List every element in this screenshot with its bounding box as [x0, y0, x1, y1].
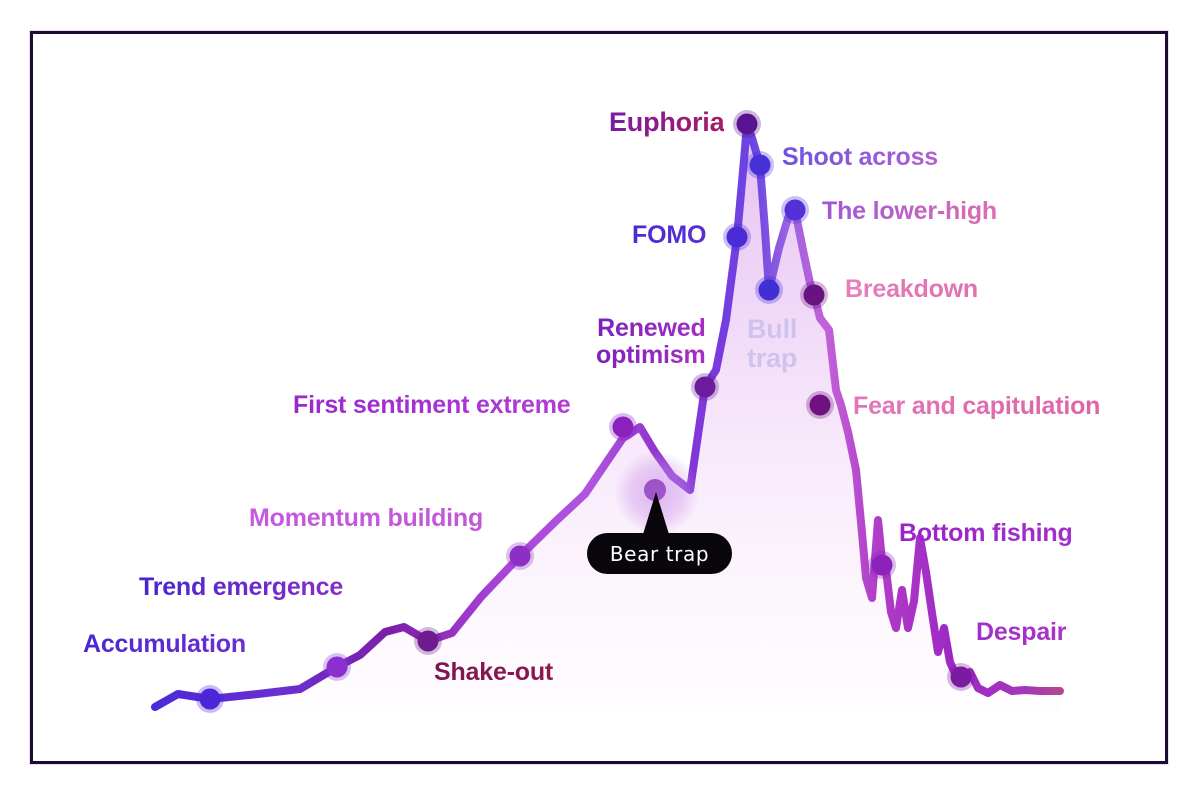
label-shake-out: Shake-out — [434, 659, 553, 686]
data-point-trend-emergence[interactable] — [327, 657, 348, 678]
label-shoot-across: Shoot across — [782, 144, 938, 171]
data-point-fear-and-capitulation[interactable] — [810, 395, 831, 416]
data-point-accumulation[interactable] — [200, 689, 221, 710]
label-breakdown: Breakdown — [845, 276, 978, 303]
data-point-bottom-fishing[interactable] — [872, 555, 893, 576]
data-point-fomo[interactable] — [727, 227, 748, 248]
label-despair: Despair — [976, 619, 1066, 646]
data-point-despair[interactable] — [951, 667, 972, 688]
data-point-momentum-building[interactable] — [510, 546, 531, 567]
data-point-the-lower-high[interactable] — [785, 200, 806, 221]
data-point-shoot-across[interactable] — [750, 155, 771, 176]
label-trend-emergence: Trend emergence — [139, 574, 343, 601]
bear-trap-callout[interactable]: Bear trap — [587, 533, 732, 574]
data-point-bull-trap[interactable] — [759, 280, 780, 301]
label-first-sentiment-extreme: First sentiment extreme — [293, 392, 570, 419]
bear-trap-label: Bear trap — [610, 542, 709, 566]
chart-canvas: Bear trap AccumulationTrend emergenceSha… — [0, 0, 1200, 795]
label-euphoria: Euphoria — [609, 108, 724, 137]
label-the-lower-high: The lower-high — [822, 198, 997, 225]
data-point-first-sentiment-extreme[interactable] — [613, 417, 634, 438]
data-point-euphoria[interactable] — [737, 114, 758, 135]
data-point-renewed-optimism[interactable] — [695, 377, 716, 398]
data-point-shake-out[interactable] — [418, 631, 439, 652]
chart-plot-area: Bear trap AccumulationTrend emergenceSha… — [0, 0, 1200, 795]
data-point-breakdown[interactable] — [804, 285, 825, 306]
label-accumulation: Accumulation — [83, 631, 246, 658]
label-bull-trap: Bull trap — [747, 315, 797, 373]
label-momentum-building: Momentum building — [249, 505, 483, 532]
label-bottom-fishing: Bottom fishing — [899, 520, 1073, 547]
label-renewed-optimism: Renewed optimism — [596, 315, 706, 369]
label-fear-and-capitulation: Fear and capitulation — [853, 393, 1100, 420]
label-fomo: FOMO — [632, 222, 706, 249]
